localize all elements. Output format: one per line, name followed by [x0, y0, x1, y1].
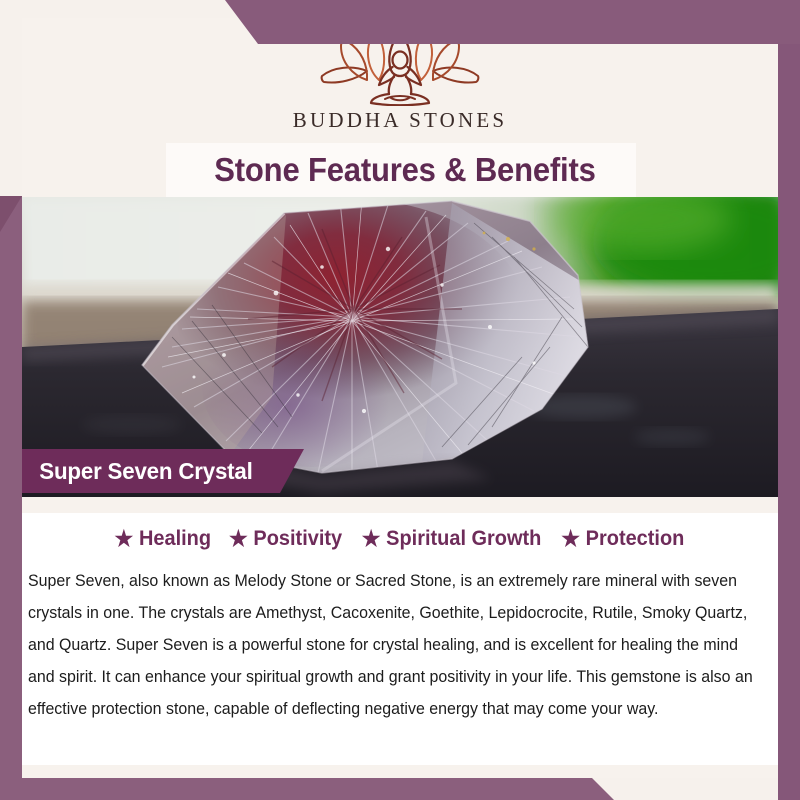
benefits-row: ★ Healing ★ Positivity ★ Spiritual Growt… — [22, 519, 778, 559]
benefit-item-healing: ★ Healing — [115, 527, 212, 551]
stone-name-label: Super Seven Crystal — [39, 458, 252, 485]
star-icon: ★ — [115, 528, 134, 550]
frame-band-bottom — [0, 778, 800, 800]
benefit-label: Spiritual Growth — [386, 527, 541, 551]
frame-band-right — [778, 0, 800, 800]
stone-name-banner: Super Seven Crystal — [22, 449, 304, 493]
brand-wordmark: BUDDHA STONES — [293, 108, 508, 133]
benefit-item-positivity: ★ Positivity — [229, 527, 342, 551]
description-paragraph: Super Seven, also known as Melody Stone … — [28, 565, 761, 725]
star-icon: ★ — [561, 528, 580, 550]
benefit-label: Healing — [139, 527, 211, 551]
benefit-label: Positivity — [253, 527, 342, 551]
star-icon: ★ — [229, 528, 248, 550]
content-divider-strip — [22, 497, 778, 513]
benefit-item-protection: ★ Protection — [561, 527, 684, 551]
star-icon: ★ — [362, 528, 381, 550]
benefit-label: Protection — [586, 527, 685, 551]
benefit-item-spiritual-growth: ★ Spiritual Growth — [362, 527, 542, 551]
page-title: Stone Features & Benefits — [128, 144, 683, 196]
